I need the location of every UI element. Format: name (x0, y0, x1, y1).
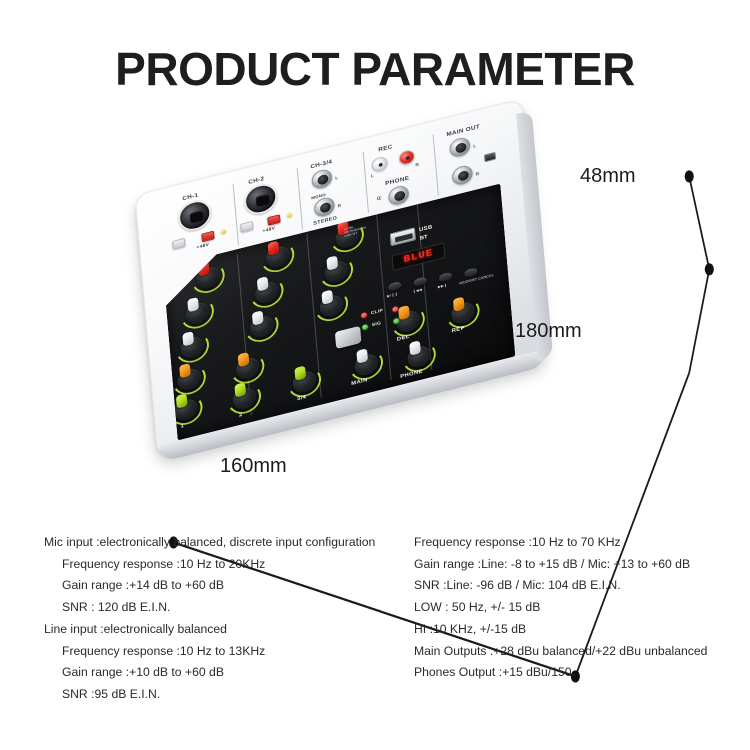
led-display: BLUE (392, 243, 446, 271)
trs-jack-phone[interactable] (388, 184, 410, 207)
spec-line: Frequency response :10 Hz to 20KHz (44, 558, 404, 570)
next-track-label: ▶▶❙ (438, 282, 448, 289)
spec-column-left: Mic input :electronically balanced, disc… (44, 536, 404, 710)
spec-line: Line input :electronically balanced (44, 623, 404, 635)
page-title: PRODUCT PARAMETER (0, 42, 750, 96)
spec-line: Mic input :electronically balanced, disc… (44, 536, 404, 548)
phantom-switch-ch1[interactable] (201, 231, 214, 243)
knob-cap (238, 352, 250, 367)
mic-line-switch-ch2[interactable] (240, 221, 253, 233)
usb-media-pad[interactable] (335, 326, 362, 349)
knob-gain-ch2[interactable] (262, 241, 293, 274)
phantom-label-ch2: +48V (262, 226, 275, 234)
spec-line: SNR : 120 dB E.I.N. (44, 601, 404, 613)
spec-line: LOW : 50 Hz, +/- 15 dB (414, 601, 744, 613)
sig-label: SIG (372, 321, 382, 328)
knob-hi-ch2[interactable] (251, 276, 282, 309)
connector-divider (433, 134, 439, 195)
dimension-endpoint (705, 263, 714, 275)
knob-cap (356, 348, 368, 363)
knob-cap (179, 363, 191, 378)
led-display-text: BLUE (403, 248, 433, 266)
dimension-label-height: 48mm (580, 165, 636, 188)
knob-cap (252, 310, 264, 325)
sig-led (362, 324, 368, 331)
knob-label-level-1: 1 (180, 423, 184, 429)
spec-line: Phones Output :+15 dBu/150 (414, 666, 744, 678)
usb-label: USB (419, 225, 433, 233)
knob-main-out[interactable] (351, 349, 382, 382)
channel-label-right: R (338, 203, 342, 209)
knob-low-ch34[interactable] (316, 290, 347, 323)
channel-label-left: L (335, 175, 338, 181)
trs-jack-main-right[interactable] (451, 164, 473, 187)
dimension-line-height (689, 176, 709, 372)
knob-hi-ch1[interactable] (182, 297, 213, 330)
rca-jack-rec-left[interactable] (371, 156, 388, 173)
knob-cap (268, 241, 280, 256)
headphone-icon: ⍺ (376, 194, 381, 202)
phantom-led-ch2 (287, 213, 292, 218)
xlr-jack-ch2[interactable] (243, 181, 279, 218)
channel-label-right: R (415, 162, 419, 168)
channel-label-left: L (371, 174, 374, 180)
dimension-label-depth: 180mm (515, 320, 582, 343)
spec-line: SNR :Line: -96 dB / Mic: 104 dB E.I.N. (414, 579, 744, 591)
spec-column-right: Frequency response :10 Hz to 70 KHzGain … (414, 536, 744, 688)
knob-cap (326, 255, 338, 270)
connector-label-phone: PHONE (385, 175, 409, 187)
knob-cap (453, 297, 465, 312)
knob-cap (398, 305, 410, 320)
knob-repeat[interactable] (447, 297, 478, 330)
dc-power-jack[interactable] (484, 152, 496, 163)
spec-line: Frequency response :10 Hz to 70 KHz (414, 536, 744, 548)
knob-label-level-2: 2 (239, 412, 243, 418)
connector-divider (233, 184, 239, 245)
play-pause-label: ▶/❙❙ (387, 291, 398, 298)
connector-divider (297, 168, 303, 229)
mic-line-switch-ch1[interactable] (172, 238, 185, 250)
spec-line: Gain range :+10 dB to +60 dB (44, 666, 404, 678)
xlr-jack-ch1[interactable] (177, 197, 213, 234)
spec-line: HI :10 KHz, +/-15 dB (414, 623, 744, 635)
knob-fx-ch1[interactable] (174, 363, 205, 396)
knob-level-ch34[interactable] (289, 366, 320, 399)
knob-cap (294, 366, 306, 381)
knob-hi-ch34[interactable] (321, 256, 352, 289)
knob-label-level-34: 3/4 (297, 395, 307, 402)
spec-line: SNR :95 dB E.I.N. (44, 688, 404, 700)
knob-cap (234, 382, 246, 397)
connector-label-rec: REC (378, 144, 393, 153)
next-track-button[interactable] (439, 272, 452, 283)
dimension-endpoint (685, 170, 694, 182)
trs-jack-ch34-left[interactable] (311, 168, 333, 191)
connector-divider (363, 152, 369, 213)
knob-cap (409, 340, 421, 355)
product-parameter-page: PRODUCT PARAMETER CH-1 +48V CH-2 (0, 0, 750, 750)
phantom-led-ch1 (221, 229, 226, 234)
knob-cap (182, 331, 194, 346)
spec-line: Main Outputs :+28 dBu balanced/+22 dBu u… (414, 645, 744, 657)
phantom-switch-ch2[interactable] (267, 214, 280, 226)
spec-line: Frequency response :10 Hz to 13KHz (44, 645, 404, 657)
previous-track-label: ❙◀◀ (412, 287, 422, 294)
mixer-chassis: CH-1 +48V CH-2 +48V CH-3/4 L R MON (134, 98, 545, 457)
phantom-label-ch1: +48V (196, 242, 209, 250)
knob-cap (321, 289, 333, 304)
knob-level-ch2[interactable] (229, 382, 260, 415)
knob-cap (176, 393, 188, 408)
spec-line: Gain range :+14 dB to +60 dB (44, 579, 404, 591)
trs-jack-ch34-right[interactable] (313, 196, 335, 219)
knob-fx-ch2[interactable] (232, 352, 263, 385)
knob-cap (187, 297, 199, 312)
knob-low-ch2[interactable] (246, 311, 277, 344)
channel-label-right: R (476, 171, 480, 177)
bluetooth-label: BT (420, 235, 428, 242)
clip-label: CLIP (371, 308, 384, 316)
channel-label-left: L (473, 144, 476, 150)
spec-line: Gain range :Line: -8 to +15 dB / Mic: +1… (414, 558, 744, 570)
dimension-label-width: 160mm (220, 455, 287, 478)
trs-jack-main-left[interactable] (449, 136, 471, 159)
usb-port[interactable] (390, 227, 416, 246)
knob-label-phone: PHONE (400, 369, 423, 380)
clip-led (361, 312, 367, 319)
product-photo: CH-1 +48V CH-2 +48V CH-3/4 L R MON (120, 105, 680, 525)
play-pause-button[interactable] (388, 281, 401, 292)
knob-low-ch1[interactable] (177, 331, 208, 364)
rca-jack-rec-right[interactable] (398, 149, 415, 166)
knob-cap (257, 276, 269, 291)
